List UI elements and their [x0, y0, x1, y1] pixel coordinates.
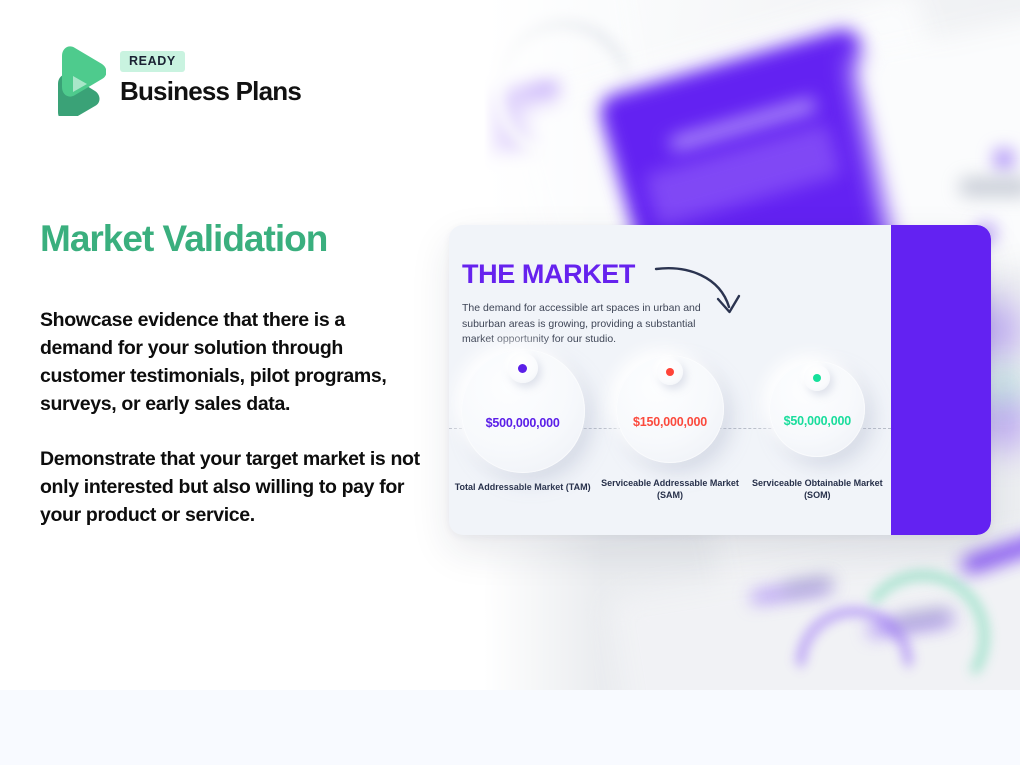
metric-tam: $500,000,000 Total Addressable Market (T…: [450, 349, 596, 493]
metric-sam: $150,000,000 Serviceable Addressable Mar…: [597, 349, 743, 501]
metric-value: $150,000,000: [616, 415, 724, 429]
card-title: THE MARKET: [462, 259, 635, 290]
metric-value: $500,000,000: [461, 416, 585, 430]
metric-knob-cap: [804, 365, 830, 391]
metric-knob-cap: [657, 359, 683, 385]
metric-knob: $150,000,000: [616, 355, 724, 463]
metric-label: Serviceable Addressable Market (SAM): [597, 477, 743, 501]
left-content-panel: READY Business Plans Market Validation S…: [0, 0, 460, 690]
brand-text-block: READY Business Plans: [120, 51, 301, 107]
metric-knob: $50,000,000: [769, 361, 865, 457]
blurred-chip-right-1: [960, 178, 1020, 196]
slide-page: THE MARKET The demand for accessible art…: [0, 0, 1020, 765]
body-copy: Showcase evidence that there is a demand…: [40, 306, 420, 529]
blurred-dot-right-1: [995, 150, 1013, 168]
metric-label: Serviceable Obtainable Market (SOM): [744, 477, 890, 501]
ready-badge: READY: [120, 51, 185, 72]
brand-name: Business Plans: [120, 76, 301, 107]
curved-down-arrow-icon: [654, 263, 744, 330]
body-paragraph-1: Showcase evidence that there is a demand…: [40, 306, 420, 418]
metric-value: $50,000,000: [769, 414, 865, 428]
page-bottom-strip: [0, 690, 1020, 765]
indicator-dot-red-icon: [666, 368, 674, 376]
metric-som: $50,000,000 Serviceable Obtainable Marke…: [744, 349, 890, 501]
card-accent-block: [891, 225, 991, 535]
brand-lockup: READY Business Plans: [40, 42, 301, 116]
metric-knob-cap: [508, 353, 538, 383]
blurred-glow-green: [993, 375, 1015, 397]
the-market-card: THE MARKET The demand for accessible art…: [449, 225, 991, 535]
double-play-logo-icon: [40, 42, 106, 116]
indicator-dot-green-icon: [813, 374, 821, 382]
body-paragraph-2: Demonstrate that your target market is n…: [40, 445, 420, 529]
market-metrics-row: $500,000,000 Total Addressable Market (T…: [449, 349, 891, 529]
indicator-dot-purple-icon: [518, 364, 527, 373]
metric-knob: $500,000,000: [461, 349, 585, 473]
page-title: Market Validation: [40, 218, 327, 260]
metric-label: Total Addressable Market (TAM): [450, 481, 596, 493]
